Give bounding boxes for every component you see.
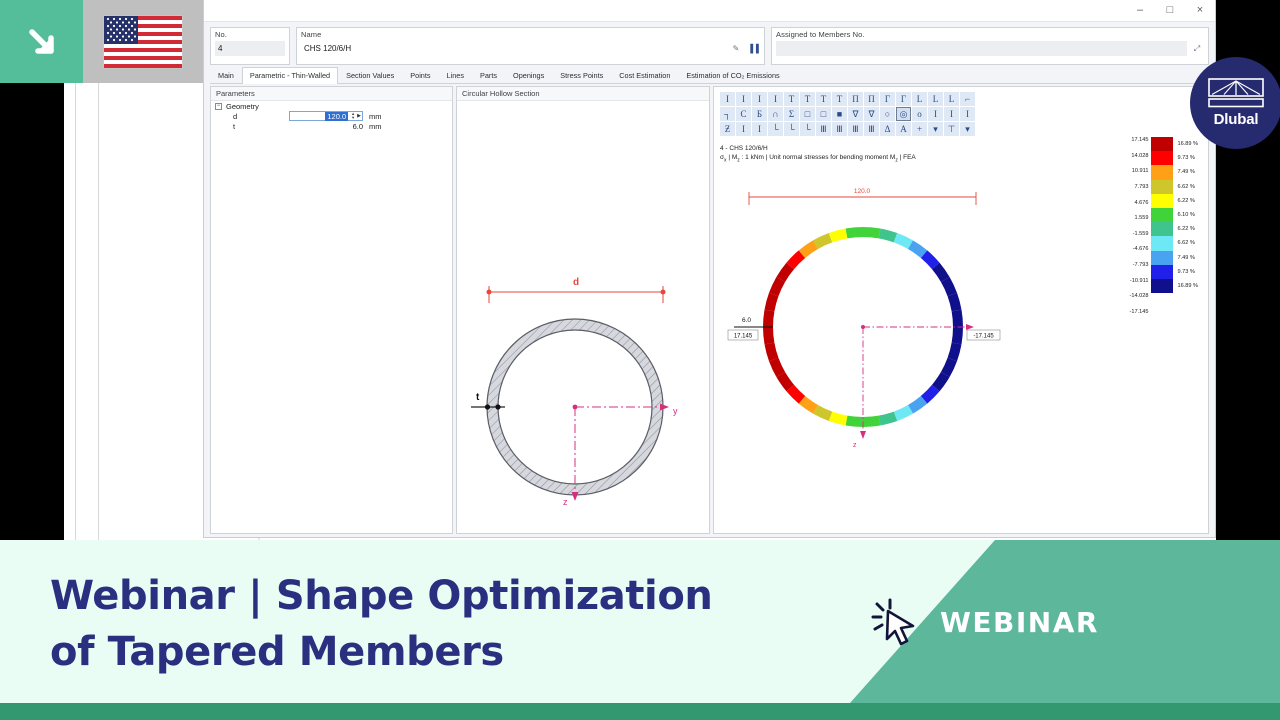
param-value-d: 120.0 [325,112,348,121]
chevron-down-icon[interactable]: ▾ [928,122,943,136]
fea-title-line2: σx | Mz : 1 kNm | Unit normal stresses f… [720,153,916,165]
tab-cost-estimation[interactable]: Cost Estimation [611,67,678,83]
axis-z-arrow [860,431,866,439]
shape-icon[interactable]: I [736,122,751,136]
section-no-group: No. 4 [210,27,290,65]
corner-accent [0,0,83,83]
chevron-down-icon[interactable]: ▾ [960,122,975,136]
legend-percent: 6.22 % [1177,194,1198,208]
stress-segment [829,229,848,243]
section-shape-toolbar: I I I I T T T T Π Π Г Г L [720,92,975,136]
spinner-icon[interactable]: ▲▼ [350,112,356,120]
maximize-button[interactable]: □ [1155,0,1185,21]
legend-percent: 16.89 % [1177,279,1198,293]
shape-icon[interactable]: Б [752,107,767,121]
shape-icon[interactable]: L [944,92,959,106]
parameters-caption: Parameters [211,87,452,101]
legend-percent: 6.22 % [1177,222,1198,236]
value-label-left: 17.145 [728,330,758,340]
shape-icon[interactable]: T [784,92,799,106]
parameters-pane: Parameters − Geometry d 120.0 ▲▼ [210,86,453,534]
banner-title: Webinar | Shape Optimization of Tapered … [50,568,770,680]
stress-segment [829,412,848,426]
shape-icon[interactable]: I [736,92,751,106]
tab-co2-estimation[interactable]: Estimation of CO₂ Emissions [678,67,787,83]
stress-segment [879,412,898,426]
fea-result-pane: I I I I T T T T Π Π Г Г L [713,86,1209,534]
dimension-diameter-label: 120.0 [854,188,871,195]
tab-points[interactable]: Points [402,67,438,83]
shape-icon[interactable]: T [832,92,847,106]
language-flag-container [83,0,203,83]
section-tabbar: Main Parametric - Thin-Walled Section Va… [210,69,1209,84]
us-flag-icon [104,16,182,68]
click-cursor-icon [870,598,920,646]
legend-color-swatch [1151,208,1173,222]
axis-y-label: y [673,406,678,416]
shape-icon[interactable]: ⌐ [960,92,975,106]
legend-percent: 9.73 % [1177,265,1198,279]
edit-icon[interactable]: ✎ [729,42,743,56]
param-name-t: t [215,122,275,131]
legend-color-swatch [1151,236,1173,250]
tab-stress-points[interactable]: Stress Points [552,67,611,83]
shape-icon-row: Ƶ I I └ └ └ Ⅲ Ⅲ Ⅲ Ⅲ Δ Α + [720,122,975,136]
section-no-input[interactable]: 4 [215,41,285,56]
collapse-icon[interactable]: − [215,103,222,110]
stress-segment [879,229,898,243]
stress-segment [863,227,880,238]
shape-icon[interactable]: Δ [880,122,895,136]
shape-icon[interactable]: I [752,92,767,106]
table-row[interactable]: t 6.0 mm [211,121,452,131]
param-name-d: d [215,112,275,121]
shape-icon[interactable]: Г [880,92,895,106]
tab-lines[interactable]: Lines [439,67,472,83]
legend-color-swatch [1151,222,1173,236]
shape-icon-row: I I I I T T T T Π Π Г Г L [720,92,975,106]
minimize-button[interactable]: – [1125,0,1155,21]
legend-value: 4.676 [1134,200,1148,206]
shape-icon[interactable]: T [800,92,815,106]
stress-segment [948,293,962,312]
shape-icon[interactable]: Ⅲ [832,122,847,136]
shape-icon[interactable]: └ [784,122,799,136]
arrow-down-right-icon [22,22,62,62]
legend-color-swatch [1151,279,1173,293]
shape-icon[interactable]: □ [816,107,831,121]
shape-icon[interactable]: Α [896,122,911,136]
select-members-icon[interactable]: ⤢ [1190,42,1204,56]
screenshot-stage: – □ × No. 4 Name CHS 120/6/H ✎ ▐▐ [0,0,1280,720]
dlubal-logo: Dlubal [1190,57,1280,149]
shape-icon-circle[interactable]: ○ [880,107,895,121]
shape-icon[interactable]: L [912,92,927,106]
stress-segment [952,327,963,344]
fea-stress-ring: 120.0 z [716,179,1016,469]
stress-segment [765,343,779,362]
shape-icon[interactable]: ∇ [864,107,879,121]
legend-value: -4.676 [1133,246,1149,252]
shape-icon[interactable]: Ⅲ [816,122,831,136]
axis-z-label: z [853,442,857,449]
section-name-input[interactable]: CHS 120/6/H [301,41,726,56]
shape-icon[interactable]: І [960,107,975,121]
dlubal-wordmark: Dlubal [1214,111,1259,128]
tab-parts[interactable]: Parts [472,67,505,83]
axis-z-label: z [563,497,568,507]
shape-icon[interactable]: L [928,92,943,106]
shape-icon[interactable]: ∩ [768,107,783,121]
shape-icon[interactable]: └ [800,122,815,136]
bottom-accent-strip [0,703,1280,720]
legend-color-swatch [1151,151,1173,165]
legend-percent: 6.62 % [1177,236,1198,250]
stress-segment [765,293,779,312]
shape-icon[interactable]: ∇ [848,107,863,121]
panes-container: Parameters − Geometry d 120.0 ▲▼ [210,86,1209,537]
section-no-label: No. [215,30,285,40]
shape-icon[interactable]: Π [864,92,879,106]
shape-icon[interactable]: Ⅲ [848,122,863,136]
param-value-t[interactable]: 6.0 [289,122,363,131]
svg-text:17.145: 17.145 [734,334,753,340]
fea-result-title: 4 - CHS 120/6/H σx | Mz : 1 kNm | Unit n… [720,144,916,165]
legend-color-swatch [1151,137,1173,151]
shape-icon[interactable]: I [928,107,943,121]
legend-percents: 16.89 % 9.73 % 7.49 % 6.62 % 6.22 % 6.10… [1173,137,1198,315]
section-drawing: d t [457,87,709,533]
dimension-thickness-label: 6.0 [742,317,751,324]
dlubal-frame-icon [1208,78,1264,108]
shape-icon[interactable]: ┐ [720,107,735,121]
stress-segment [846,227,863,238]
param-unit-t: mm [363,122,382,131]
legend-value: -1.559 [1133,231,1149,237]
stress-segment [948,343,962,362]
legend-percent: 7.49 % [1177,165,1198,179]
dropdown-arrow-icon[interactable]: ▶ [357,113,361,119]
shape-icon[interactable]: Σ [784,107,799,121]
shape-icon[interactable]: I [768,92,783,106]
shape-icon-circular-hollow-selected[interactable]: ◎ [896,107,911,121]
table-row[interactable]: d 120.0 ▲▼ ▶ mm [211,111,452,121]
value-label-right: -17.145 [967,330,1000,340]
legend-color-swatch [1151,194,1173,208]
legend-value: -14.028 [1129,293,1148,299]
stress-segment [763,327,774,344]
fea-title-line1: 4 - CHS 120/6/H [720,144,916,153]
library-icon[interactable]: ▐▐ [746,42,760,56]
shape-icon[interactable]: Ƶ [720,122,735,136]
ring-hatch [457,87,710,534]
shape-icon[interactable]: C [736,107,751,121]
shape-icon[interactable]: o [912,107,927,121]
axes [863,327,966,431]
shape-icon-row: ┐ C Б ∩ Σ □ □ ■ ∇ ∇ ○ ◎ o [720,107,975,121]
stress-segment [952,310,963,327]
legend-value: 1.559 [1134,215,1148,221]
webinar-badge-label: WEBINAR [940,606,1099,639]
parameters-group-row[interactable]: − Geometry [211,101,452,111]
legend-percent: 6.10 % [1177,208,1198,222]
assigned-members-input[interactable] [776,41,1187,56]
shape-icon[interactable]: I [752,122,767,136]
shape-icon[interactable]: Ⅲ [864,122,879,136]
parameters-table: − Geometry d 120.0 ▲▼ ▶ [211,101,452,131]
legend-percent: 9.73 % [1177,151,1198,165]
legend-value: -7.793 [1133,262,1149,268]
axis-y-arrow [966,324,974,330]
legend-color-swatch [1151,165,1173,179]
legend-value: -10.911 [1130,278,1149,284]
window-content: No. 4 Name CHS 120/6/H ✎ ▐▐ Assigned to … [204,22,1215,537]
webinar-banner: Webinar | Shape Optimization of Tapered … [0,540,1280,703]
legend-percent: 7.49 % [1177,251,1198,265]
shape-icon[interactable]: □ [800,107,815,121]
section-name-label: Name [301,30,760,40]
legend-percent: 6.62 % [1177,180,1198,194]
shape-icon[interactable]: ■ [832,107,847,121]
chs-section-svg: d t [457,87,710,534]
parameters-group-label: Geometry [226,102,259,111]
legend-value: 14.028 [1131,153,1148,159]
legend-color-swatch [1151,251,1173,265]
shape-icon[interactable]: I [944,107,959,121]
shape-icon[interactable]: Г [896,92,911,106]
legend-colorbars [1151,137,1173,315]
close-button[interactable]: × [1185,0,1215,21]
legend-value: -17.145 [1129,309,1148,315]
legend-values: 17.145 14.028 10.911 7.793 4.676 1.559 -… [1129,137,1151,315]
shape-icon[interactable]: T [816,92,831,106]
shape-icon[interactable]: └ [768,122,783,136]
assigned-members-group: Assigned to Members No. ⤢ [771,27,1209,65]
window-titlebar: – □ × [204,0,1215,22]
section-name-group: Name CHS 120/6/H ✎ ▐▐ [296,27,765,65]
tab-openings[interactable]: Openings [505,67,552,83]
legend-color-swatch [1151,180,1173,194]
legend-value: 7.793 [1134,184,1148,190]
svg-text:-17.145: -17.145 [973,334,994,340]
webinar-badge: WEBINAR [870,598,1099,646]
stress-legend: 17.145 14.028 10.911 7.793 4.676 1.559 -… [1129,137,1198,315]
stress-segment [763,310,774,327]
shape-icon[interactable]: I [720,92,735,106]
legend-percent: 16.89 % [1177,137,1198,151]
param-unit-d: mm [363,112,382,121]
plus-icon[interactable]: + [912,122,927,136]
shape-icon[interactable]: Π [848,92,863,106]
rsection-window: – □ × No. 4 Name CHS 120/6/H ✎ ▐▐ [203,0,1216,538]
legend-value: 10.911 [1132,168,1149,174]
assigned-members-label: Assigned to Members No. [776,30,1204,40]
section-drawing-pane: Circular Hollow Section [456,86,710,534]
header-fields: No. 4 Name CHS 120/6/H ✎ ▐▐ Assigned to … [210,27,1209,65]
legend-value: 17.145 [1131,137,1148,143]
tab-parametric[interactable]: Parametric - Thin-Walled [242,67,338,84]
shape-icon[interactable]: ⊤ [944,122,959,136]
stress-segment [846,416,863,427]
tab-section-values[interactable]: Section Values [338,67,402,83]
tab-main[interactable]: Main [210,67,242,83]
stress-segment [863,416,880,427]
param-value-d-input[interactable]: 120.0 ▲▼ ▶ [289,111,363,121]
legend-color-swatch [1151,265,1173,279]
